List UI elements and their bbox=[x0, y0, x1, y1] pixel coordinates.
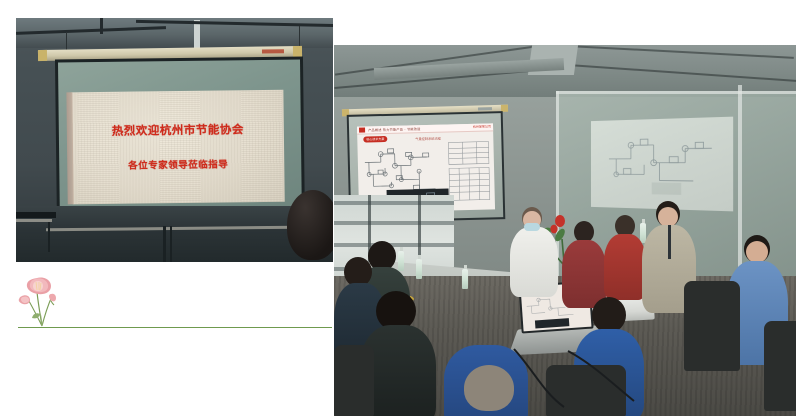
rail-post bbox=[48, 222, 50, 252]
wall-rail bbox=[16, 219, 52, 222]
roller-end-cap bbox=[38, 50, 47, 61]
welcome-line-2: 各位专家领导莅临指导 bbox=[72, 156, 284, 173]
projection-screen-surface: 热烈欢迎杭州市节能协会 各位专家领导莅临指导 bbox=[58, 60, 302, 227]
attendee bbox=[562, 221, 606, 307]
roller-brand-label bbox=[262, 49, 284, 53]
attendee bbox=[604, 215, 646, 299]
roller-end-cap bbox=[293, 46, 302, 57]
office-chair bbox=[764, 321, 796, 411]
pink-carnation-flower-icon bbox=[18, 272, 72, 330]
blind-slat bbox=[334, 221, 454, 225]
floor-cables bbox=[504, 345, 684, 415]
lower-wall bbox=[16, 206, 333, 262]
ceiling-beam bbox=[16, 26, 166, 35]
ceiling bbox=[16, 18, 333, 48]
blind-slat bbox=[334, 201, 454, 205]
ceiling-beam bbox=[100, 18, 103, 34]
laptop-slide-dark-panel bbox=[535, 318, 569, 328]
company-logo-icon bbox=[359, 127, 365, 132]
wall-dark-band bbox=[16, 212, 56, 218]
projection-texture bbox=[71, 90, 284, 205]
meeting-room-audience-photo: 产品概述 热力节能产品 - 节能改造 杭州某某公司 核心技术方案 气量控制系统流… bbox=[334, 45, 796, 416]
slide-header-badge: 杭州某某公司 bbox=[473, 124, 491, 128]
projector-screen-welcome-photo: 热烈欢迎杭州市节能协会 各位专家领导莅临指导 bbox=[16, 18, 333, 262]
slide-page: 热烈欢迎杭州市节能协会 各位专家领导莅临指导 bbox=[0, 0, 804, 416]
green-divider-line bbox=[18, 327, 332, 328]
rail-post bbox=[170, 226, 172, 262]
whiteboard bbox=[591, 117, 733, 212]
office-chair bbox=[684, 281, 740, 371]
decorative-divider bbox=[16, 272, 334, 332]
welcome-line-1: 热烈欢迎杭州市节能协会 bbox=[72, 121, 284, 140]
attendee-presenter bbox=[510, 207, 558, 297]
rail-post bbox=[163, 226, 166, 262]
water-bottle bbox=[416, 259, 422, 279]
whiteboard-diagram bbox=[604, 127, 721, 199]
slide-pill-label: 核心技术方案 bbox=[363, 136, 387, 143]
glass-frame bbox=[556, 91, 796, 94]
slide-caption: 气量控制系统流程 bbox=[415, 136, 441, 142]
water-bottle bbox=[462, 269, 468, 289]
projected-slide: 热烈欢迎杭州市节能协会 各位专家领导莅临指导 bbox=[71, 90, 284, 205]
office-chair bbox=[334, 345, 374, 416]
roller-brand-label bbox=[478, 107, 492, 110]
slide-data-tables bbox=[446, 139, 492, 202]
projection-screen-frame: 热烈欢迎杭州市节能协会 各位专家领导莅临指导 bbox=[55, 56, 305, 229]
attendee-silhouette bbox=[287, 190, 333, 260]
